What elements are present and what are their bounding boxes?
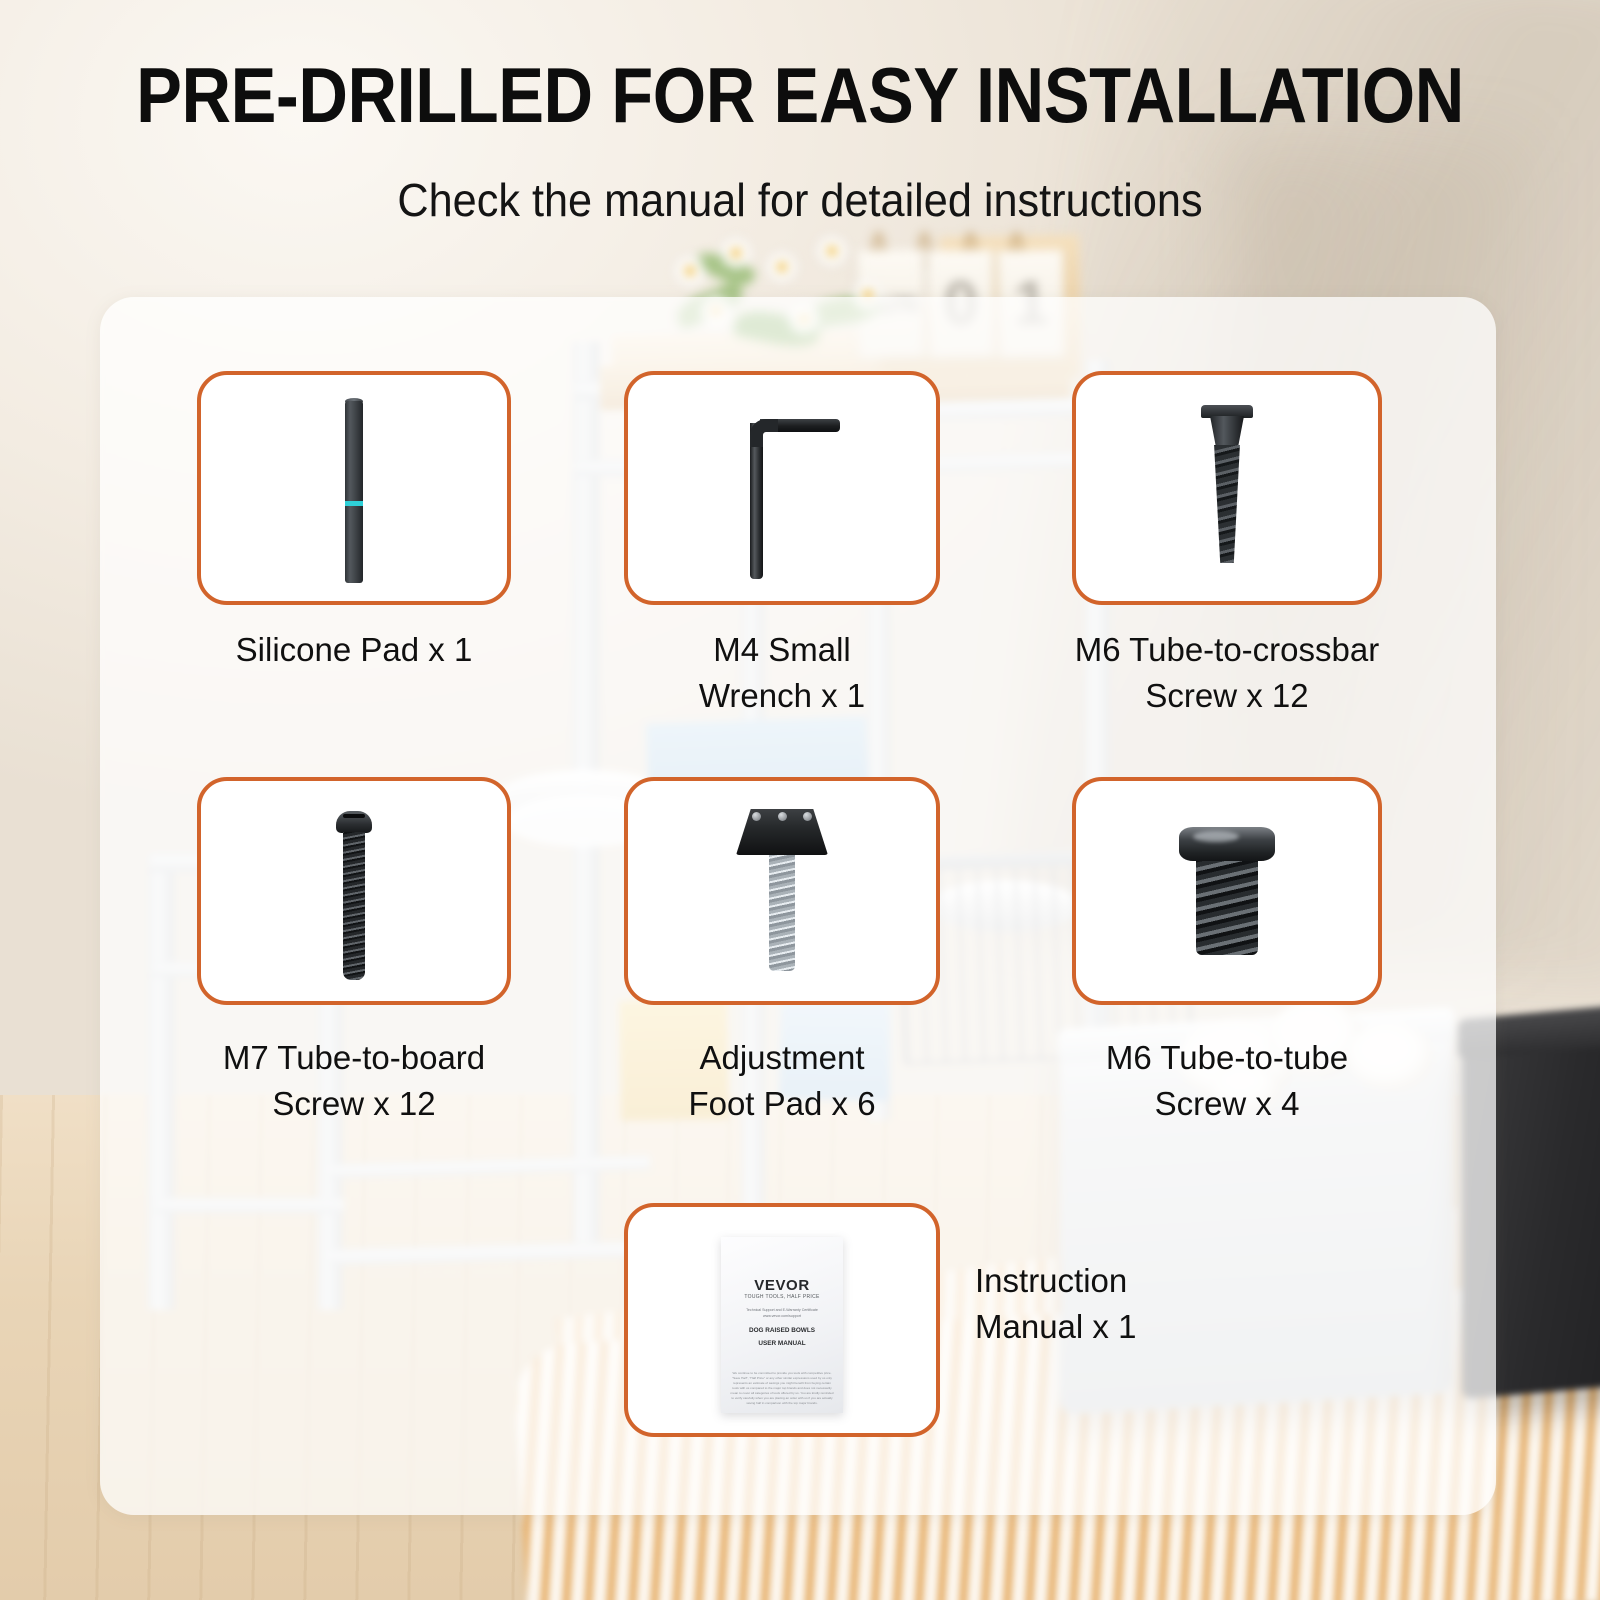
pan-head-screw-icon [201, 781, 507, 1001]
part-card-adjustment-foot-pad[interactable] [624, 777, 940, 1005]
part-label-m6-tube-to-tube: M6 Tube-to-tube Screw x 4 [1032, 1035, 1422, 1127]
daisy-flower [673, 254, 707, 288]
part-label-m7-tube-to-board: M7 Tube-to-board Screw x 12 [177, 1035, 531, 1127]
part-card-m6-tube-to-crossbar[interactable] [1072, 371, 1382, 605]
part-card-m7-tube-to-board[interactable] [197, 777, 511, 1005]
manual-booklet-icon: VEVOR TOUGH TOOLS, HALF PRICE Technical … [628, 1207, 936, 1433]
flange-bolt-icon [1076, 781, 1378, 1001]
part-label-instruction-manual: Instruction Manual x 1 [975, 1258, 1315, 1350]
daisy-flower [765, 250, 799, 284]
hex-wrench-icon [628, 375, 936, 601]
part-card-silicone-pad[interactable] [197, 371, 511, 605]
daisy-flower [815, 234, 849, 268]
page-title: PRE-DRILLED FOR EASY INSTALLATION [96, 52, 1504, 138]
infographic-root: JUN 0 1 [0, 0, 1600, 1600]
vevor-tagline: TOUGH TOOLS, HALF PRICE [721, 1294, 843, 1300]
manual-document-type: USER MANUAL [721, 1340, 843, 1347]
part-label-silicone-pad: Silicone Pad x 1 [177, 627, 531, 673]
part-card-m6-tube-to-tube[interactable] [1072, 777, 1382, 1005]
vevor-logo: VEVOR [721, 1277, 843, 1294]
manual-product-title: DOG RAISED BOWLS [721, 1327, 843, 1334]
daisy-flower [719, 236, 753, 270]
part-label-m4-small-wrench: M4 Small Wrench x 1 [604, 627, 960, 719]
silicone-pad-icon [201, 375, 507, 601]
coarse-thread-screw-icon [1076, 375, 1378, 601]
part-card-instruction-manual[interactable]: VEVOR TOUGH TOOLS, HALF PRICE Technical … [624, 1203, 940, 1437]
part-card-m4-small-wrench[interactable] [624, 371, 940, 605]
manual-cover: VEVOR TOUGH TOOLS, HALF PRICE Technical … [721, 1237, 843, 1413]
foot-pad-icon [628, 781, 936, 1001]
part-label-m6-tube-to-crossbar: M6 Tube-to-crossbar Screw x 12 [1032, 627, 1422, 719]
page-subtitle: Check the manual for detailed instructio… [48, 172, 1552, 228]
part-label-adjustment-foot-pad: Adjustment Foot Pad x 6 [604, 1035, 960, 1127]
manual-body-text: We continue to be committed to provide y… [730, 1371, 834, 1406]
manual-support-line: Technical Support and E-Warranty Certifi… [727, 1307, 837, 1319]
